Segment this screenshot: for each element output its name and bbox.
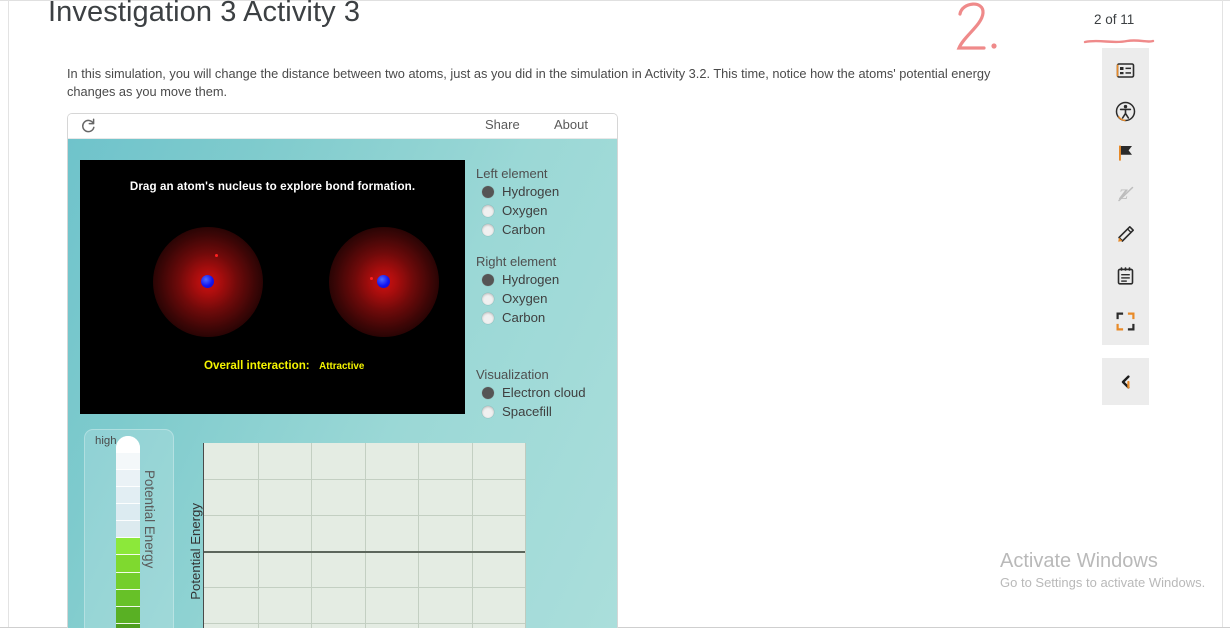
radio-indicator <box>482 224 494 236</box>
radio-spacefill[interactable]: Spacefill <box>471 402 618 421</box>
gauge-segment <box>116 555 140 572</box>
simulation-body: Drag an atom's nucleus to explore bond f… <box>68 139 617 628</box>
simulation-toolbar: Share About <box>68 114 617 139</box>
page-counter: 2 of 11 <box>1094 12 1134 27</box>
summary-card-icon[interactable] <box>1102 50 1149 91</box>
right-atom-electron <box>370 277 373 280</box>
potential-energy-chart[interactable] <box>203 443 526 628</box>
left-atom-electron <box>215 254 218 257</box>
controls-spacer <box>471 239 618 254</box>
chart-y-axis-label: Potential Energy <box>188 503 203 600</box>
radio-label: Carbon <box>502 310 545 325</box>
gauge-high-label: high <box>95 435 117 447</box>
fullscreen-icon[interactable] <box>1102 301 1149 342</box>
chevron-left-icon[interactable] <box>1102 361 1149 402</box>
right-atom-nucleus[interactable] <box>377 275 390 288</box>
gauge-column <box>116 436 140 628</box>
chart-gridline-vertical <box>472 443 473 628</box>
radio-indicator <box>482 387 494 399</box>
radio-left-carbon[interactable]: Carbon <box>471 220 618 239</box>
simulation-stage[interactable]: Drag an atom's nucleus to explore bond f… <box>80 160 465 414</box>
stage-hint-text: Drag an atom's nucleus to explore bond f… <box>80 180 465 193</box>
watermark-subtitle: Go to Settings to activate Windows. <box>1000 574 1205 592</box>
chart-zero-line <box>204 551 525 553</box>
language-icon[interactable]: Z <box>1102 173 1149 214</box>
page-counter-underline <box>1083 32 1155 39</box>
accessibility-icon[interactable] <box>1102 91 1149 132</box>
overall-interaction-value: Attractive <box>319 361 364 372</box>
simulation-controls: Left element Hydrogen Oxygen Carbon <box>471 166 618 421</box>
windows-activation-watermark: Activate Windows Go to Settings to activ… <box>1000 548 1205 592</box>
chart-gridline-vertical <box>258 443 259 628</box>
intro-paragraph: In this simulation, you will change the … <box>67 65 1029 100</box>
radio-label: Electron cloud <box>502 385 586 400</box>
left-atom-nucleus[interactable] <box>201 275 214 288</box>
simulation-card: Share About Drag an atom's nucleus to ex… <box>67 113 618 628</box>
flag-icon[interactable] <box>1102 132 1149 173</box>
overall-interaction: Overall interaction: Attractive <box>204 356 364 374</box>
radio-indicator <box>482 274 494 286</box>
gauge-segment <box>116 436 140 453</box>
gauge-segment <box>116 538 140 555</box>
chart-gridline-horizontal <box>204 479 525 480</box>
gauge-segment <box>116 607 140 624</box>
chart-gridline-horizontal <box>204 515 525 516</box>
watermark-title: Activate Windows <box>1000 548 1205 574</box>
gauge-segment <box>116 573 140 590</box>
radio-label: Hydrogen <box>502 272 559 287</box>
radio-indicator <box>482 406 494 418</box>
gauge-segment <box>116 487 140 504</box>
visualization-title: Visualization <box>476 367 618 382</box>
gauge-segment <box>116 504 140 521</box>
frame-edge-left <box>8 0 9 628</box>
chart-gridline-horizontal <box>204 623 525 624</box>
gauge-segment <box>116 624 140 628</box>
about-link[interactable]: About <box>554 117 588 132</box>
radio-label: Hydrogen <box>502 184 559 199</box>
pencil-icon[interactable] <box>1102 214 1149 255</box>
radio-right-oxygen[interactable]: Oxygen <box>471 289 618 308</box>
radio-left-oxygen[interactable]: Oxygen <box>471 201 618 220</box>
radio-right-carbon[interactable]: Carbon <box>471 308 618 327</box>
gauge-segment <box>116 521 140 538</box>
radio-label: Carbon <box>502 222 545 237</box>
radio-indicator <box>482 293 494 305</box>
radio-indicator <box>482 186 494 198</box>
radio-left-hydrogen[interactable]: Hydrogen <box>471 182 618 201</box>
handwritten-annotation <box>950 0 1020 56</box>
radio-indicator <box>482 312 494 324</box>
radio-right-hydrogen[interactable]: Hydrogen <box>471 270 618 289</box>
right-atom[interactable] <box>329 227 439 337</box>
chart-gridline-vertical <box>311 443 312 628</box>
left-atom[interactable] <box>153 227 263 337</box>
refresh-icon[interactable] <box>79 117 97 135</box>
radio-label: Oxygen <box>502 291 547 306</box>
left-element-group: Left element Hydrogen Oxygen Carbon <box>471 166 618 239</box>
tool-sidebar: Z <box>1102 48 1149 345</box>
left-element-title: Left element <box>476 166 618 181</box>
chart-gridline-horizontal <box>204 587 525 588</box>
right-element-title: Right element <box>476 254 618 269</box>
chart-gridline-vertical <box>365 443 366 628</box>
gauge-segment <box>116 470 140 487</box>
page-root: Investigation 3 Activity 3 2 of 11 In th… <box>0 0 1230 628</box>
radio-electron-cloud[interactable]: Electron cloud <box>471 383 618 402</box>
notepad-icon[interactable] <box>1102 255 1149 296</box>
gauge-axis-label: Potential Energy <box>142 470 157 568</box>
potential-energy-gauge: high Potential Energy <box>84 429 174 628</box>
chart-gridline-vertical <box>418 443 419 628</box>
sidebar-collapse-panel <box>1102 358 1149 405</box>
frame-edge-right <box>1222 0 1223 628</box>
gauge-segment <box>116 453 140 470</box>
radio-indicator <box>482 205 494 217</box>
overall-interaction-label: Overall interaction: <box>204 359 310 372</box>
radio-label: Oxygen <box>502 203 547 218</box>
page-title: Investigation 3 Activity 3 <box>48 0 360 29</box>
right-element-group: Right element Hydrogen Oxygen Carbon <box>471 254 618 327</box>
visualization-group: Visualization Electron cloud Spacefill <box>471 367 618 421</box>
radio-label: Spacefill <box>502 404 552 419</box>
gauge-segment <box>116 590 140 607</box>
share-link[interactable]: Share <box>485 117 520 132</box>
